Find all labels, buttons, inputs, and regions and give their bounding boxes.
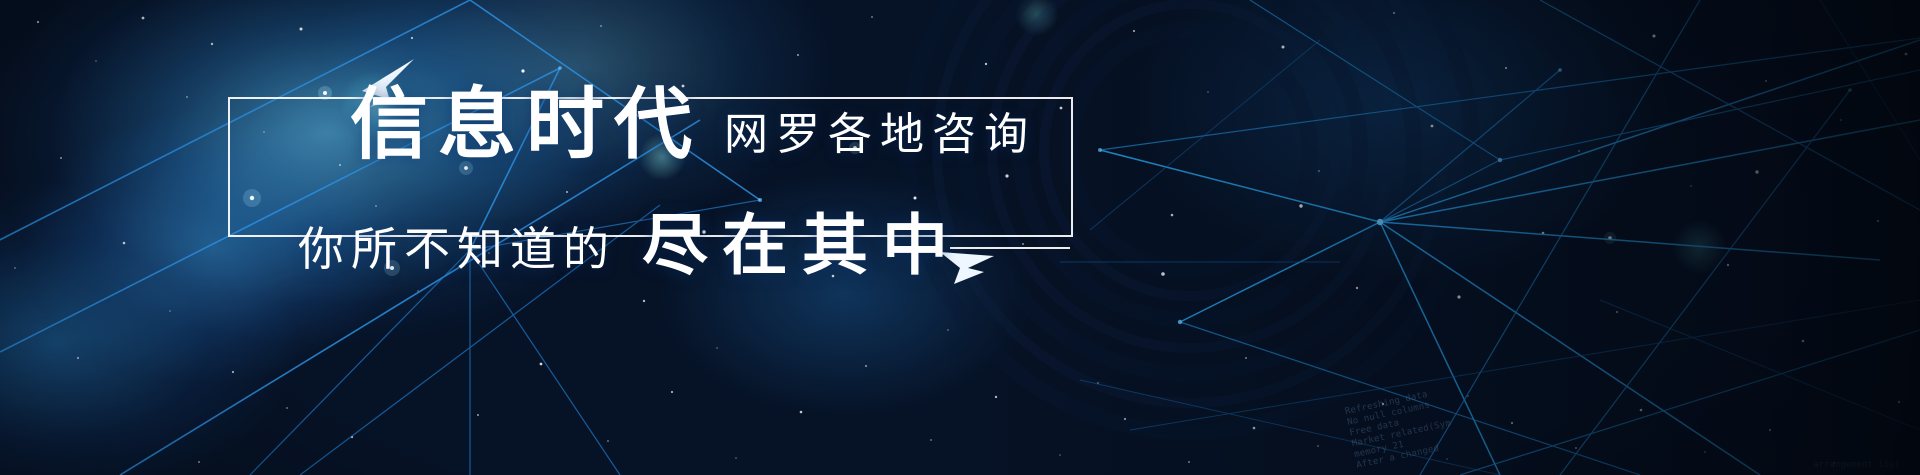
headline-row-primary: 信息时代 网罗各地咨询 xyxy=(350,85,1036,163)
decor-tail-line xyxy=(950,247,1070,249)
headline-main: 信息时代 xyxy=(350,85,702,163)
headline-sub: 网罗各地咨询 xyxy=(724,113,1036,157)
headline-accent: 尽在其中 xyxy=(642,212,962,278)
headline-lead: 你所不知道的 xyxy=(298,226,616,272)
hero-banner: Refreshing data No null columns Free dat… xyxy=(0,0,1920,475)
headline-row-secondary: 你所不知道的 尽在其中 xyxy=(298,212,962,278)
banner-content: 信息时代 网罗各地咨询 你所不知道的 尽在其中 xyxy=(0,0,1920,475)
